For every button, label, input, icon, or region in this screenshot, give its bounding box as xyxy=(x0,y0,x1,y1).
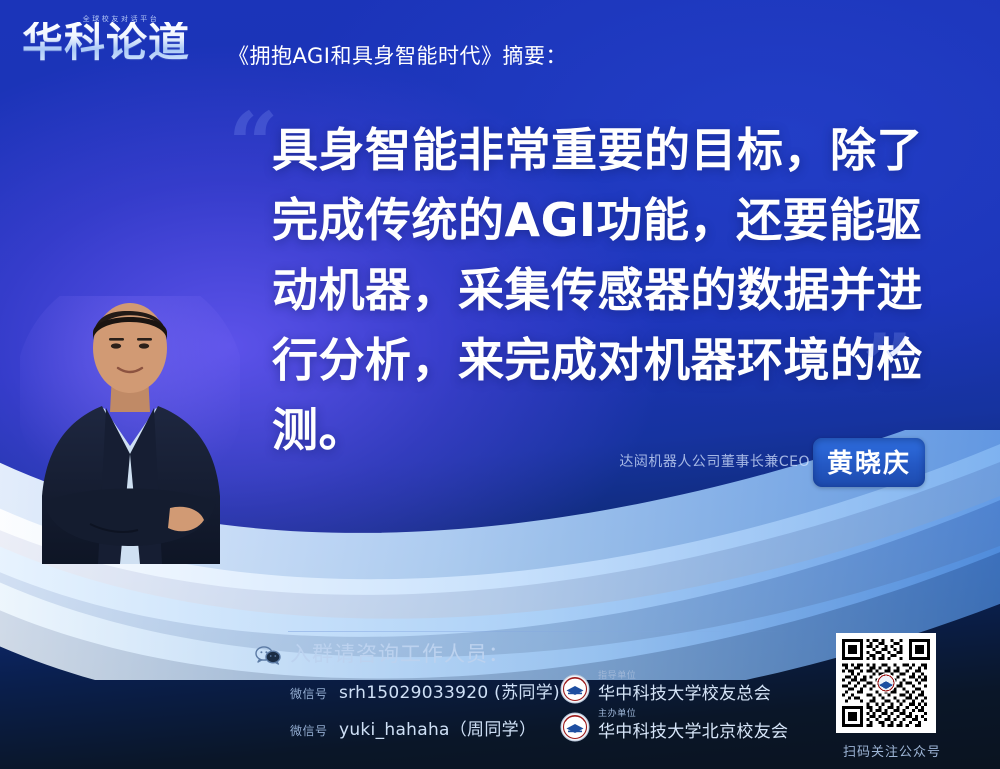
qr-code[interactable] xyxy=(836,633,936,733)
contact-label: 微信号 xyxy=(290,687,328,701)
page-title: 《拥抱AGI和具身智能时代》摘要： xyxy=(228,40,567,70)
poster-header: 全球校友对话平台 华科论道 《拥抱AGI和具身智能时代》摘要： xyxy=(0,0,1000,88)
speaker-portrait xyxy=(20,296,240,564)
wechat-icon xyxy=(255,645,281,665)
contact-value: srh15029033920 (苏同学) xyxy=(339,683,560,703)
qr-caption: 扫码关注公众号 xyxy=(836,741,948,760)
poster-canvas: 全球校友对话平台 华科论道 《拥抱AGI和具身智能时代》摘要： xyxy=(0,0,1000,769)
hust-seal-icon xyxy=(560,712,590,742)
speaker-name-badge: 黄晓庆 xyxy=(813,438,925,487)
organization-name: 华中科技大学北京校友会 xyxy=(598,717,788,742)
brand-logo-text: 华科论道 xyxy=(22,22,220,63)
speaker-role: 达闼机器人公司董事长兼CEO xyxy=(619,451,810,471)
contact-row: 微信号 yuki_hahaha（周同学） xyxy=(290,715,536,740)
contact-value: yuki_hahaha（周同学） xyxy=(339,720,536,740)
contact-label: 微信号 xyxy=(290,724,328,738)
hust-seal-icon xyxy=(560,674,590,704)
quote-close-mark: ” xyxy=(862,322,913,410)
contact-row: 微信号 srh15029033920 (苏同学) xyxy=(290,678,560,703)
brand-logo: 全球校友对话平台 华科论道 xyxy=(22,14,220,72)
footer-divider xyxy=(288,631,788,632)
footer-heading: 入群请咨询工作人员： xyxy=(290,638,510,668)
organization-name: 华中科技大学校友总会 xyxy=(598,679,771,704)
speaker-attribution: 达闼机器人公司董事长兼CEO 黄晓庆 xyxy=(560,443,920,483)
qr-block: 扫码关注公众号 xyxy=(836,633,948,760)
quote-text: 具身智能非常重要的目标，除了完成传统的AGI功能，还要能驱动机器，采集传感器的数… xyxy=(272,116,940,466)
